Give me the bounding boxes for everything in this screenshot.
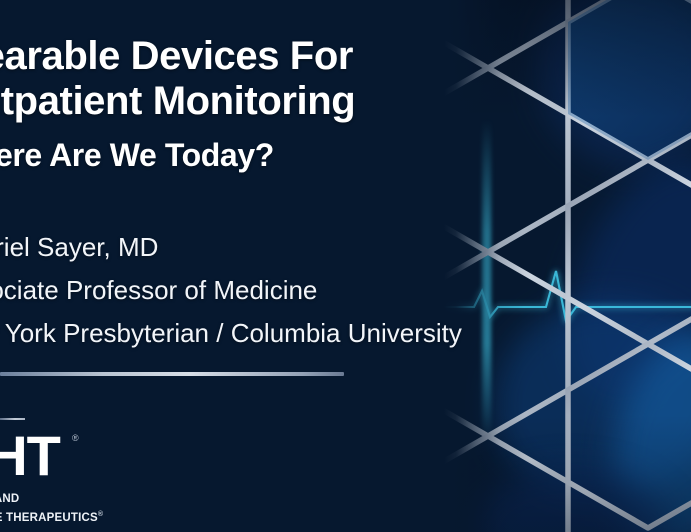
content-column: Wearable Devices For Outpatient Monitori…: [0, 0, 560, 532]
presenter-byline: Gabriel Sayer, MD Associate Professor of…: [0, 226, 586, 355]
presenter-affiliation: New York Presbyterian / Columbia Univers…: [0, 312, 586, 355]
presenter-name: Gabriel Sayer, MD: [0, 226, 586, 269]
title-line-1: Wearable Devices For: [0, 34, 546, 79]
logo-subtitle-line-2: HEART FAILURE THERAPEUTICS®: [0, 507, 208, 526]
logo-divider: [0, 418, 25, 420]
logo-wordmark: THT: [0, 428, 60, 484]
page-title: Wearable Devices For Outpatient Monitori…: [0, 34, 546, 175]
logo-subtitle-text: HEART FAILURE THERAPEUTICS: [0, 512, 98, 524]
logo-subtitle-registered-icon: ®: [98, 511, 103, 518]
divider: [0, 372, 344, 376]
title-line-2: Outpatient Monitoring: [0, 79, 546, 124]
title-line-3: Where Are We Today?: [0, 135, 546, 175]
presenter-title: Associate Professor of Medicine: [0, 269, 586, 312]
logo-subtitle-line-1: TECHNOLOGY AND: [0, 492, 208, 507]
logo-registered-icon: ®: [72, 434, 79, 443]
title-slide: Wearable Devices For Outpatient Monitori…: [0, 0, 691, 532]
logo-subtitle: TECHNOLOGY AND HEART FAILURE THERAPEUTIC…: [0, 492, 208, 526]
